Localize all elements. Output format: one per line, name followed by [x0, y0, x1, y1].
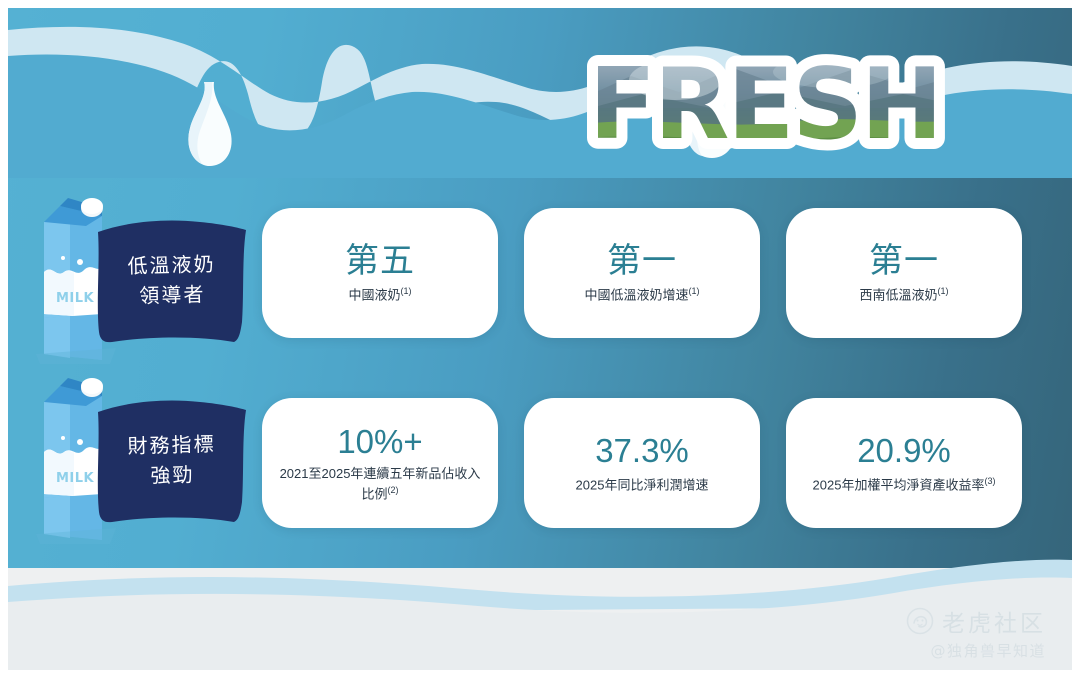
stat-card-southwest-low-temp[interactable]: 第一 西南低溫液奶(1) [786, 208, 1022, 338]
stat-card-net-profit-growth[interactable]: 37.3% 2025年同比淨利潤增速 [524, 398, 760, 528]
stat-card-china-liquid-milk[interactable]: 第五 中國液奶(1) [262, 208, 498, 338]
stat-caption-text: 中國液奶 [348, 288, 400, 303]
stat-card-china-low-temp-growth[interactable]: 第一 中國低溫液奶增速(1) [524, 208, 760, 338]
stat-caption: 西南低溫液奶(1) [859, 285, 948, 305]
watermark-title: 老虎社区 [942, 604, 1046, 638]
banner-line-1: 低溫液奶 [127, 249, 216, 281]
stat-footnote: (1) [689, 286, 700, 296]
banner-text-2: 財務指標 強勁 [90, 394, 253, 526]
stat-footnote: (1) [938, 286, 949, 296]
slide-canvas: FRESH FRESH MILK [8, 8, 1072, 670]
banner-line-1: 財務指標 [127, 429, 216, 461]
svg-text:MILK: MILK [56, 471, 95, 486]
stat-caption: 中國低溫液奶增速(1) [584, 285, 699, 305]
stat-caption-text: 2025年同比淨利潤增速 [576, 477, 709, 492]
banner-financial-strength: 財務指標 強勁 [92, 396, 252, 524]
stat-card-new-product-revenue-share[interactable]: 10%+ 2021至2025年連續五年新品佔收入比例(2) [262, 398, 498, 528]
banner-text-1: 低溫液奶 領導者 [90, 214, 253, 346]
stat-value: 第五 [345, 241, 415, 282]
stat-value: 第一 [607, 241, 677, 282]
tiger-circle-icon [906, 607, 934, 635]
stat-footnote: (2) [388, 485, 399, 495]
stat-footnote: (3) [984, 476, 995, 486]
stat-footnote: (1) [401, 286, 412, 296]
stat-caption-text: 2021至2025年連續五年新品佔收入比例 [280, 466, 481, 501]
stat-value: 37.3% [595, 431, 689, 471]
stat-caption: 2025年同比淨利潤增速 [576, 475, 709, 495]
svg-text:FRESH: FRESH [589, 48, 941, 158]
stat-value: 10%+ [337, 422, 422, 462]
stat-caption: 中國液奶(1) [348, 285, 411, 305]
banner-low-temp-leader: 低溫液奶 領導者 [92, 216, 252, 344]
svg-text:MILK: MILK [56, 291, 95, 306]
fresh-headline: FRESH FRESH [583, 46, 963, 158]
stat-caption-text: 2025年加權平均淨資產收益率 [813, 477, 985, 492]
stat-caption-text: 西南低溫液奶 [859, 288, 937, 303]
watermark: 老虎社区 @独角兽早知道 [906, 604, 1046, 661]
stat-caption: 2021至2025年連續五年新品佔收入比例(2) [276, 465, 484, 504]
stat-card-weighted-roe[interactable]: 20.9% 2025年加權平均淨資產收益率(3) [786, 398, 1022, 528]
stat-caption-text: 中國低溫液奶增速 [584, 288, 688, 303]
watermark-handle: @独角兽早知道 [930, 640, 1046, 661]
stat-value: 第一 [869, 241, 939, 282]
banner-line-2: 領導者 [139, 279, 206, 311]
stat-value: 20.9% [857, 431, 951, 471]
banner-line-2: 強勁 [150, 459, 195, 490]
stat-caption: 2025年加權平均淨資產收益率(3) [813, 475, 996, 495]
